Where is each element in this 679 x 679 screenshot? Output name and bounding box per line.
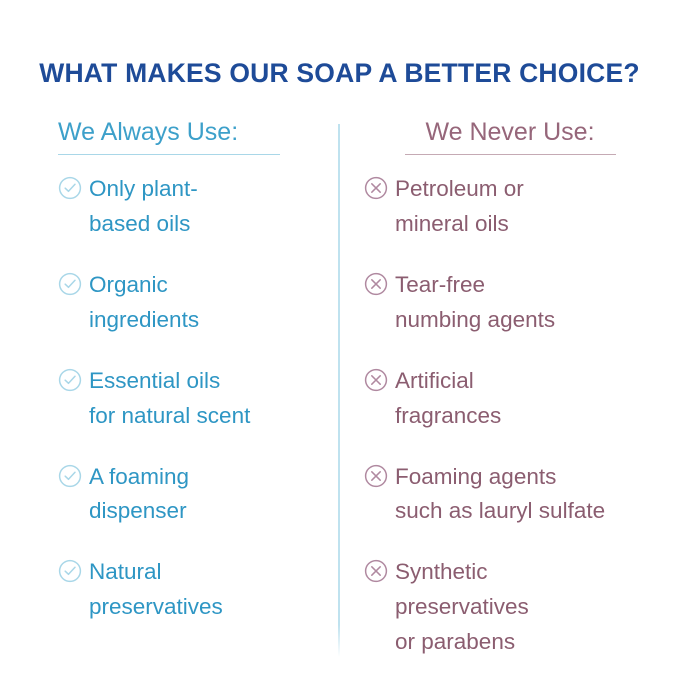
- circle-x-icon: [364, 176, 388, 200]
- text-line: Organic: [89, 268, 199, 303]
- text-line: such as lauryl sulfate: [395, 494, 605, 529]
- text-line: or parabens: [395, 625, 529, 660]
- text-line: Only plant-: [89, 172, 198, 207]
- list-item: A foaming dispenser: [58, 460, 338, 530]
- text-line: preservatives: [395, 590, 529, 625]
- list-item-text: Only plant- based oils: [89, 172, 198, 242]
- circle-x-icon: [364, 464, 388, 488]
- list-item: Natural preservatives: [58, 555, 338, 625]
- text-line: mineral oils: [395, 207, 524, 242]
- circle-check-icon: [58, 368, 82, 392]
- circle-check-icon: [58, 272, 82, 296]
- list-item: Tear-free numbing agents: [364, 268, 679, 338]
- text-line: Essential oils: [89, 364, 250, 399]
- list-item-text: Synthetic preservatives or parabens: [395, 555, 529, 660]
- circle-x-icon: [364, 272, 388, 296]
- never-use-heading: We Never Use:: [364, 118, 656, 154]
- list-item: Petroleum or mineral oils: [364, 172, 679, 242]
- always-use-heading-rule: [58, 154, 280, 156]
- circle-check-icon: [58, 176, 82, 200]
- circle-check-icon: [58, 464, 82, 488]
- list-item-text: Essential oils for natural scent: [89, 364, 250, 434]
- soap-comparison-infographic: WHAT MAKES OUR SOAP A BETTER CHOICE? We …: [0, 0, 679, 679]
- list-item-text: Natural preservatives: [89, 555, 223, 625]
- list-item-text: Organic ingredients: [89, 268, 199, 338]
- never-use-heading-rule: [405, 154, 616, 156]
- text-line: dispenser: [89, 494, 189, 529]
- text-line: based oils: [89, 207, 198, 242]
- text-line: Synthetic: [395, 555, 529, 590]
- text-line: Tear-free: [395, 268, 555, 303]
- circle-check-icon: [58, 559, 82, 583]
- always-use-heading: We Always Use:: [58, 118, 338, 154]
- circle-x-icon: [364, 559, 388, 583]
- text-line: Natural: [89, 555, 223, 590]
- text-line: preservatives: [89, 590, 223, 625]
- always-use-column: We Always Use: Only plant- based oils: [0, 118, 338, 625]
- text-line: A foaming: [89, 460, 189, 495]
- text-line: Petroleum or: [395, 172, 524, 207]
- circle-x-icon: [364, 368, 388, 392]
- comparison-columns: We Always Use: Only plant- based oils: [0, 118, 679, 660]
- list-item-text: Artificial fragrances: [395, 364, 501, 434]
- list-item: Foaming agents such as lauryl sulfate: [364, 460, 679, 530]
- list-item-text: A foaming dispenser: [89, 460, 189, 530]
- list-item: Essential oils for natural scent: [58, 364, 338, 434]
- page-title: WHAT MAKES OUR SOAP A BETTER CHOICE?: [0, 58, 679, 89]
- text-line: ingredients: [89, 303, 199, 338]
- text-line: fragrances: [395, 399, 501, 434]
- text-line: for natural scent: [89, 399, 250, 434]
- list-item-text: Tear-free numbing agents: [395, 268, 555, 338]
- list-item-text: Petroleum or mineral oils: [395, 172, 524, 242]
- list-item: Organic ingredients: [58, 268, 338, 338]
- list-item: Synthetic preservatives or parabens: [364, 555, 679, 660]
- text-line: Artificial: [395, 364, 501, 399]
- list-item: Artificial fragrances: [364, 364, 679, 434]
- list-item-text: Foaming agents such as lauryl sulfate: [395, 460, 605, 530]
- text-line: Foaming agents: [395, 460, 605, 495]
- list-item: Only plant- based oils: [58, 172, 338, 242]
- text-line: numbing agents: [395, 303, 555, 338]
- never-use-column: We Never Use: Petroleum or mineral oils: [338, 118, 679, 660]
